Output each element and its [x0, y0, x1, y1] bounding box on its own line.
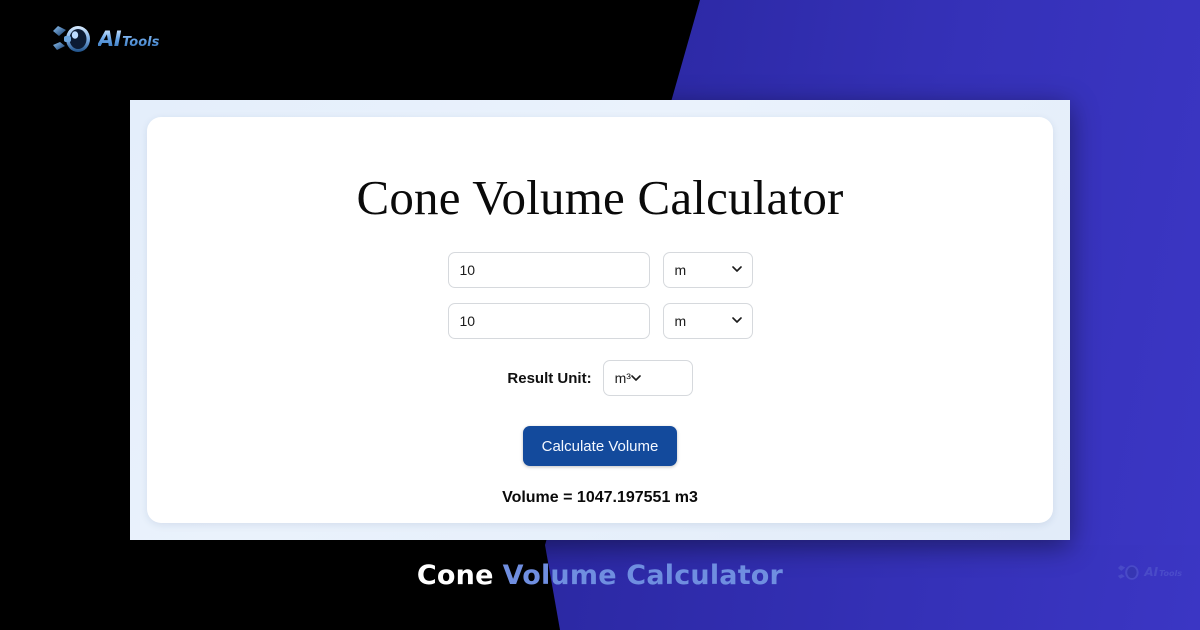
- brand-logo-text: AITools: [98, 29, 159, 50]
- height-unit-value: m: [675, 313, 687, 329]
- watermark-name-primary: AI: [1144, 565, 1158, 579]
- page-title: Cone Volume Calculator: [147, 117, 1053, 222]
- calculate-button-wrap: Calculate Volume: [147, 426, 1053, 466]
- calculate-volume-button[interactable]: Calculate Volume: [523, 426, 678, 466]
- brand-name-secondary: Tools: [122, 36, 159, 49]
- radius-unit-select[interactable]: m: [663, 252, 753, 288]
- radius-unit-value: m: [675, 262, 687, 278]
- result-unit-label: Result Unit:: [507, 370, 591, 387]
- calculator-card: Cone Volume Calculator m m: [147, 117, 1053, 523]
- input-rows: m m Result Uni: [147, 252, 1053, 507]
- radius-row: m: [147, 252, 1053, 288]
- chevron-down-icon: [732, 315, 742, 325]
- calculator-panel: Cone Volume Calculator m m: [130, 100, 1070, 540]
- height-input[interactable]: [448, 303, 650, 339]
- brand-name-primary: AI: [98, 29, 121, 50]
- robot-head-icon: [48, 22, 94, 56]
- radius-input[interactable]: [448, 252, 650, 288]
- brand-logo[interactable]: AITools: [48, 18, 159, 60]
- result-unit-row: Result Unit: m³: [147, 360, 1053, 396]
- result-unit-select[interactable]: m³: [603, 360, 693, 396]
- caption-part-b: Volume Calculator: [503, 560, 783, 591]
- watermark-text: AITools: [1144, 565, 1182, 579]
- chevron-down-icon: [631, 373, 641, 383]
- screenshot-stage: AITools Cone Volume Calculator m: [0, 0, 1200, 630]
- chevron-down-icon: [732, 264, 742, 274]
- watermark-logo: AITools: [1115, 560, 1182, 584]
- height-row: m: [147, 303, 1053, 339]
- caption-part-a: Cone: [417, 560, 494, 591]
- bottom-caption: ConeVolume Calculator: [0, 562, 1200, 589]
- height-unit-select[interactable]: m: [663, 303, 753, 339]
- result-output: Volume = 1047.197551 m3: [147, 489, 1053, 507]
- watermark-name-secondary: Tools: [1159, 569, 1182, 578]
- result-unit-value: m³: [615, 370, 631, 386]
- robot-head-icon: [1115, 563, 1141, 582]
